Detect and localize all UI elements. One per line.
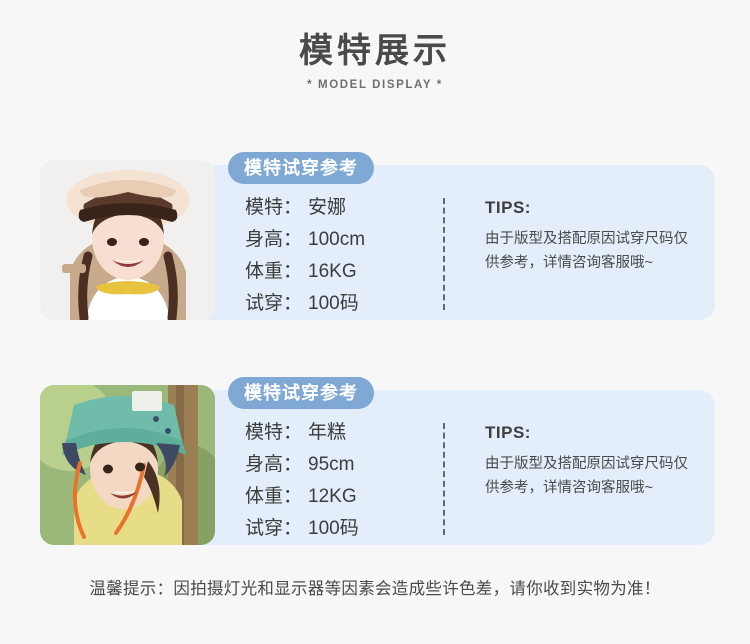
tips-title: TIPS: bbox=[485, 423, 690, 443]
model-spec-list: 模特：年糕 身高：95cm 体重：12KG 试穿：100码 bbox=[245, 417, 359, 545]
page-subtitle: * MODEL DISPLAY * bbox=[0, 79, 750, 91]
tips-section: TIPS: 由于版型及搭配原因试穿尺码仅供参考，详情咨询客服哦~ bbox=[485, 423, 690, 500]
model-spec-row: 体重：12KG bbox=[245, 481, 359, 513]
model-spec-row: 模特：安娜 bbox=[245, 192, 365, 224]
spec-label: 模特： bbox=[245, 417, 302, 449]
model-photo bbox=[40, 160, 215, 320]
spec-value: 100码 bbox=[308, 288, 359, 320]
tips-body: 由于版型及搭配原因试穿尺码仅供参考，详情咨询客服哦~ bbox=[485, 227, 690, 275]
model-photo-illustration bbox=[40, 160, 215, 320]
model-spec-row: 模特：年糕 bbox=[245, 417, 359, 449]
spec-label: 体重： bbox=[245, 256, 302, 288]
spec-label: 模特： bbox=[245, 192, 302, 224]
tips-section: TIPS: 由于版型及搭配原因试穿尺码仅供参考，详情咨询客服哦~ bbox=[485, 198, 690, 275]
model-spec-row: 试穿：100码 bbox=[245, 513, 359, 545]
page-title: 模特展示 bbox=[0, 32, 750, 71]
model-spec-list: 模特：安娜 身高：100cm 体重：16KG 试穿：100码 bbox=[245, 192, 365, 320]
model-spec-row: 体重：16KG bbox=[245, 256, 365, 288]
spec-label: 身高： bbox=[245, 449, 302, 481]
model-photo bbox=[40, 385, 215, 545]
spec-value: 12KG bbox=[308, 481, 357, 513]
model-block: 模特试穿参考 模特：安娜 身高：100cm 体重：16KG 试穿：100码 TI… bbox=[0, 140, 750, 320]
model-spec-row: 身高：100cm bbox=[245, 224, 365, 256]
spec-label: 体重： bbox=[245, 481, 302, 513]
spec-value: 年糕 bbox=[308, 417, 346, 449]
spec-label: 试穿： bbox=[245, 513, 302, 545]
tips-title: TIPS: bbox=[485, 198, 690, 218]
spec-value: 100cm bbox=[308, 224, 365, 256]
vertical-dashed-divider bbox=[443, 198, 445, 310]
vertical-dashed-divider bbox=[443, 423, 445, 535]
model-block: 模特试穿参考 模特：年糕 身高：95cm 体重：12KG 试穿：100码 TIP… bbox=[0, 365, 750, 545]
model-badge: 模特试穿参考 bbox=[228, 377, 374, 409]
footer-note: 温馨提示：因拍摄灯光和显示器等因素会造成些许色差，请你收到实物为准！ bbox=[0, 575, 750, 599]
spec-label: 试穿： bbox=[245, 288, 302, 320]
page-header: 模特展示 * MODEL DISPLAY * bbox=[0, 0, 750, 91]
tips-body: 由于版型及搭配原因试穿尺码仅供参考，详情咨询客服哦~ bbox=[485, 452, 690, 500]
model-badge: 模特试穿参考 bbox=[228, 152, 374, 184]
spec-value: 16KG bbox=[308, 256, 357, 288]
spec-value: 95cm bbox=[308, 449, 354, 481]
spec-label: 身高： bbox=[245, 224, 302, 256]
model-photo-illustration bbox=[40, 385, 215, 545]
model-spec-row: 身高：95cm bbox=[245, 449, 359, 481]
model-spec-row: 试穿：100码 bbox=[245, 288, 365, 320]
spec-value: 安娜 bbox=[308, 192, 346, 224]
spec-value: 100码 bbox=[308, 513, 359, 545]
